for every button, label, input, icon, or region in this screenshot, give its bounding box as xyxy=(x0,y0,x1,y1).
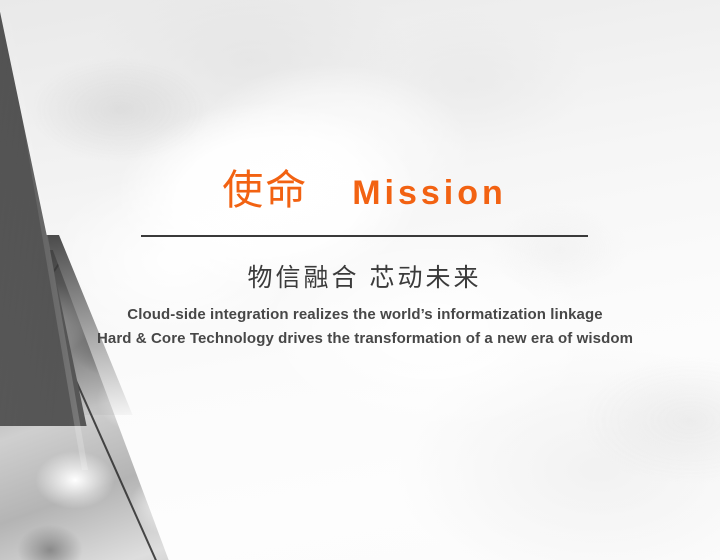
tagline-line-2: Hard & Core Technology drives the transf… xyxy=(60,327,670,351)
subtitle-cn: 物信融合 芯动未来 xyxy=(141,258,588,294)
tagline-block: Cloud-side integration realizes the worl… xyxy=(60,303,670,351)
title-divider xyxy=(141,235,588,237)
title-row: 使命 Mission xyxy=(141,170,588,211)
tagline-line-1: Cloud-side integration realizes the worl… xyxy=(60,303,670,327)
banner-content: 使命 Mission 物信融合 芯动未来 Cloud-side integrat… xyxy=(0,0,720,560)
page-title-en: Mission xyxy=(352,176,507,210)
mission-banner: 使命 Mission 物信融合 芯动未来 Cloud-side integrat… xyxy=(0,0,720,560)
page-title-cn: 使命 xyxy=(222,170,308,211)
